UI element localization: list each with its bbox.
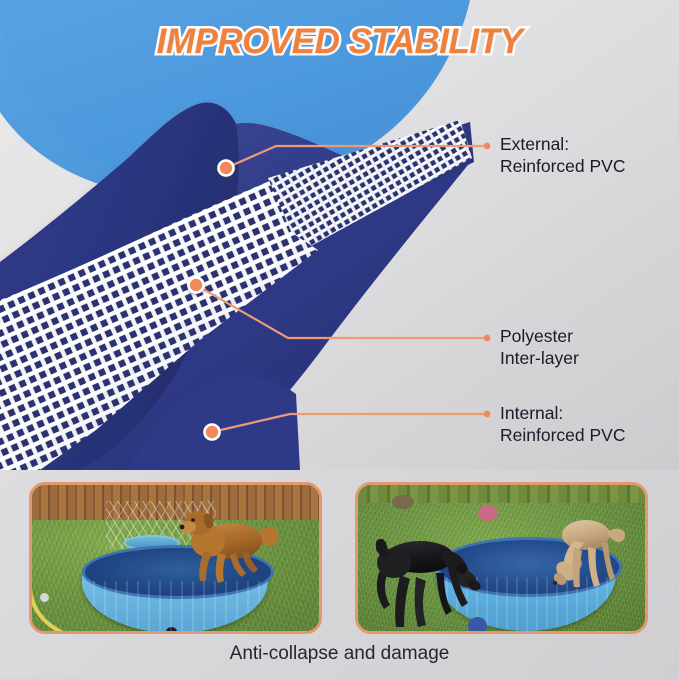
pool-drain — [166, 627, 177, 631]
scene-two-greyhounds-pool — [358, 485, 645, 631]
fawn-greyhound — [544, 509, 632, 605]
callout-label-internal: Internal: Reinforced PVC — [500, 402, 625, 447]
callout-dot-external — [219, 161, 234, 176]
photo-card-left — [29, 482, 322, 634]
black-greyhound — [376, 523, 492, 631]
callout-endpoint-polyester — [484, 335, 491, 342]
scene-golden-retriever-pool — [32, 485, 319, 631]
dirt-patch — [392, 495, 414, 509]
blue-ball — [468, 617, 487, 631]
photo-gallery — [0, 474, 679, 639]
gallery-caption: Anti-collapse and damage — [0, 643, 679, 665]
callout-external-line1: External: — [500, 134, 569, 154]
photo-card-right — [355, 482, 648, 634]
pink-ball — [478, 505, 498, 521]
product-layer-diagram — [0, 0, 679, 470]
callout-internal-line1: Internal: — [500, 403, 563, 423]
callout-dot-polyester — [189, 278, 204, 293]
callout-endpoint-external — [484, 143, 491, 150]
golden-retriever — [174, 503, 282, 589]
callout-internal-line2: Reinforced PVC — [500, 424, 625, 446]
callout-external-line2: Reinforced PVC — [500, 155, 625, 177]
callout-dot-internal — [205, 425, 220, 440]
layered-fabric-illustration — [0, 0, 679, 470]
callout-endpoint-internal — [484, 411, 491, 418]
page-title: IMPROVED STABILITY — [0, 22, 679, 62]
callout-label-polyester: Polyester Inter-layer — [500, 325, 579, 370]
decor-pebble — [40, 593, 49, 602]
callout-label-external: External: Reinforced PVC — [500, 133, 625, 178]
callout-polyester-line2: Inter-layer — [500, 347, 579, 369]
callout-polyester-line1: Polyester — [500, 326, 573, 346]
